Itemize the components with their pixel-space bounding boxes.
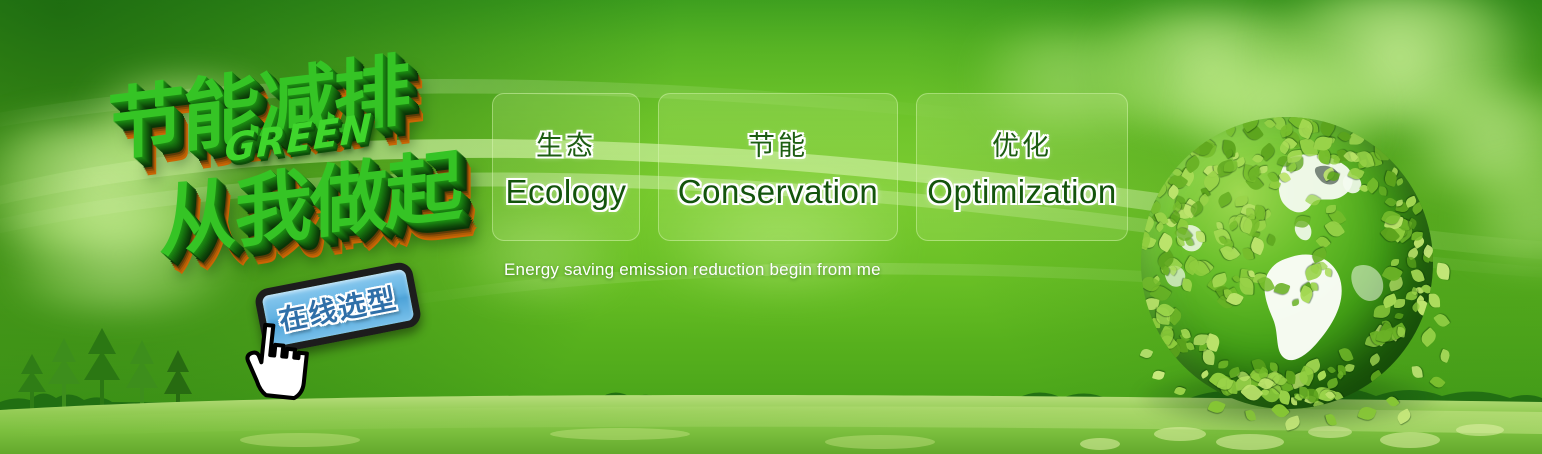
- globe-leaf-icon: [1289, 117, 1312, 132]
- globe-leaf-icon: [1252, 153, 1264, 165]
- clouds-icon: [0, 200, 270, 310]
- globe-leaf-icon: [1190, 137, 1213, 158]
- globe-leaf-icon: [1412, 232, 1423, 242]
- globe-leaf-icon: [1156, 307, 1171, 324]
- conifer-trees-icon: [0, 322, 230, 432]
- globe-leaf-icon: [1359, 184, 1370, 194]
- globe-leaf-icon: [1168, 265, 1178, 276]
- globe-leaf-icon: [1381, 209, 1401, 227]
- globe-leaf-icon: [1154, 210, 1169, 226]
- globe-leaf-icon: [1291, 397, 1298, 405]
- globe-leaf-icon: [1181, 198, 1200, 218]
- globe-leaf-icon: [1232, 274, 1241, 284]
- globe-leaf-icon: [1296, 118, 1316, 139]
- globe-leaf-icon: [1252, 272, 1266, 284]
- globe-leaf-icon: [1407, 218, 1418, 230]
- globe-leaf-icon: [1241, 380, 1264, 403]
- globe-leaf-icon: [1231, 152, 1239, 159]
- globe-leaf-icon: [1174, 224, 1193, 244]
- globe-leaf-icon: [1316, 260, 1327, 271]
- globe-leaf-icon: [1314, 135, 1333, 152]
- globe-leaf-icon: [1357, 159, 1368, 169]
- globe-leaf-icon: [1284, 370, 1296, 384]
- globe-leaf-icon: [1324, 267, 1332, 276]
- globe-leaf-icon: [1257, 376, 1274, 392]
- globe-leaf-icon: [1370, 323, 1392, 346]
- globe-leaf-icon: [1271, 401, 1290, 420]
- headline-line-top: 节能减排: [107, 27, 409, 177]
- globe-leaf-icon: [1396, 199, 1404, 206]
- clouds-icon: [0, 120, 270, 250]
- globe-leaf-icon: [1157, 232, 1176, 252]
- globe-leaf-icon: [1374, 144, 1389, 162]
- globe-leaf-icon: [1152, 318, 1161, 328]
- globe-leaf-icon: [1388, 277, 1405, 292]
- globe-leaf-icon: [1216, 159, 1236, 177]
- globe-leaf-icon: [1162, 325, 1172, 334]
- globe-leaf-icon: [1217, 293, 1236, 312]
- feature-card-en-label: Conservation: [678, 173, 878, 211]
- headline-overlay-word: GREEN: [224, 105, 373, 170]
- globe-leaf-icon: [1279, 170, 1291, 183]
- globe-leaf-icon: [1226, 291, 1244, 308]
- globe-leaf-icon: [1428, 293, 1440, 308]
- globe-leaf-icon: [1228, 215, 1240, 226]
- globe-leaf-icon: [1239, 269, 1255, 288]
- globe-leaf-icon: [1222, 243, 1240, 262]
- globe-leaf-icon: [1287, 162, 1298, 173]
- globe-leaf-icon: [1289, 371, 1310, 390]
- globe-leaf-icon: [1156, 300, 1175, 318]
- globe-leaf-icon: [1384, 213, 1404, 231]
- globe-leaf-icon: [1235, 156, 1246, 167]
- globe-leaf-icon: [1286, 150, 1302, 164]
- globe-leaf-icon: [1172, 167, 1183, 178]
- globe-leaf-icon: [1313, 386, 1330, 401]
- feature-card-row: 生态 Ecology 节能 Conservation 优化 Optimizati…: [492, 93, 1128, 241]
- globe-leaf-icon: [1165, 184, 1181, 200]
- globe-leaf-icon: [1216, 222, 1223, 230]
- globe-leaf-icon: [1410, 202, 1424, 215]
- globe-leaf-icon: [1336, 147, 1350, 162]
- globe-leaf-icon: [1377, 322, 1396, 342]
- globe-leaf-icon: [1257, 367, 1270, 381]
- globe-leaf-icon: [1152, 212, 1163, 222]
- globe-leaf-icon: [1216, 283, 1234, 302]
- globe-leaf-icon: [1242, 247, 1254, 261]
- globe-leaf-icon: [1208, 369, 1230, 390]
- globe-leaf-icon: [1202, 349, 1216, 365]
- globe-leaf-icon: [1245, 174, 1264, 193]
- globe-leaf-icon: [1176, 236, 1185, 246]
- globe-leaf-icon: [1253, 205, 1266, 220]
- globe-leaf-icon: [1304, 394, 1317, 406]
- globe-leaf-icon: [1223, 383, 1235, 394]
- globe-leaf-icon: [1410, 268, 1424, 284]
- globe-leaf-icon: [1245, 409, 1256, 422]
- feature-card-conservation[interactable]: 节能 Conservation: [658, 93, 898, 241]
- globe-leaf-icon: [1436, 263, 1451, 280]
- globe-leaf-icon: [1317, 117, 1338, 138]
- globe-leaf-icon: [1321, 166, 1337, 181]
- globe-leaf-icon: [1183, 155, 1203, 174]
- globe-leaf-icon: [1364, 177, 1381, 194]
- globe-leaf-icon: [1216, 191, 1233, 207]
- globe-leaf-icon: [1367, 353, 1382, 367]
- clouds-icon: [1150, 60, 1410, 165]
- globe-leaf-icon: [1385, 224, 1406, 243]
- globe-leaf-icon: [1151, 276, 1160, 285]
- globe-leaf-icon: [1327, 153, 1341, 166]
- globe-leaf-icon: [1161, 340, 1184, 362]
- globe-leaf-icon: [1373, 304, 1390, 319]
- globe-leaf-icon: [1390, 167, 1399, 177]
- globe-leaf-icon: [1260, 384, 1282, 406]
- globe-leaf-icon: [1382, 263, 1403, 283]
- globe-leaf-icon: [1407, 257, 1417, 269]
- globe-leaf-icon: [1382, 319, 1393, 331]
- globe-leaf-icon: [1220, 374, 1234, 389]
- globe-leaf-icon: [1422, 244, 1435, 258]
- globe-leaf-icon: [1319, 387, 1337, 403]
- globe-leaf-icon: [1152, 370, 1165, 381]
- globe-leaf-icon: [1195, 141, 1216, 160]
- globe-leaf-icon: [1316, 371, 1328, 382]
- globe-leaf-icon: [1226, 379, 1238, 394]
- globe-leaf-icon: [1154, 222, 1164, 232]
- globe-leaf-icon: [1405, 290, 1418, 301]
- globe-leaf-icon: [1252, 231, 1261, 239]
- globe-leaf-icon: [1141, 274, 1161, 295]
- globe-leaf-icon: [1395, 201, 1409, 214]
- globe-leaf-icon: [1350, 152, 1360, 164]
- globe-leaf-icon: [1310, 247, 1328, 264]
- feature-card-cn-label: 优化: [992, 124, 1052, 163]
- globe-leaf-icon: [1378, 186, 1387, 196]
- globe-leaf-icon: [1211, 272, 1228, 287]
- globe-sphere: [1141, 117, 1433, 409]
- globe-leaf-icon: [1334, 155, 1344, 164]
- globe-leaf-icon: [1390, 322, 1408, 339]
- globe-leaf-icon: [1262, 209, 1273, 219]
- globe-leaf-icon: [1234, 196, 1247, 207]
- globe-leaf-icon: [1246, 208, 1256, 220]
- globe-leaf-icon: [1185, 341, 1193, 351]
- eco-promo-banner: 节能减排 从我做起 GREEN 在线选型 生态 Ecology 节能 Conse…: [0, 0, 1542, 454]
- globe-leaf-icon: [1278, 390, 1291, 405]
- globe-leaf-icon: [1204, 333, 1221, 352]
- globe-leaf-icon: [1324, 218, 1346, 240]
- globe-leaf-icon: [1315, 234, 1331, 250]
- globe-leaf-icon: [1270, 383, 1282, 396]
- globe-leaf-icon: [1161, 265, 1171, 276]
- globe-leaf-icon: [1193, 333, 1208, 345]
- globe-leaf-icon: [1220, 383, 1232, 396]
- globe-leaf-icon: [1325, 205, 1335, 213]
- globe-leaf-icon: [1380, 224, 1401, 245]
- globe-leaf-icon: [1141, 215, 1157, 233]
- globe-leaf-icon: [1166, 313, 1173, 321]
- globe-leaf-icon: [1250, 372, 1267, 386]
- globe-leaf-icon: [1307, 389, 1318, 403]
- globe-leaf-icon: [1253, 165, 1263, 175]
- globe-leaf-icon: [1277, 376, 1294, 394]
- globe-leaf-icon: [1268, 370, 1282, 383]
- pointer-hand-icon: [228, 314, 323, 409]
- globe-leaf-icon: [1394, 223, 1415, 244]
- globe-leaf-icon: [1395, 178, 1404, 186]
- globe-leaf-icon: [1283, 137, 1298, 152]
- globe-leaf-icon: [1200, 369, 1210, 378]
- globe-leaf-icon: [1207, 275, 1226, 293]
- globe-leaf-icon: [1413, 236, 1426, 249]
- globe-leaf-icon: [1405, 247, 1420, 261]
- globe-leaf-icon: [1328, 208, 1346, 227]
- globe-leaf-icon: [1228, 221, 1239, 232]
- globe-leaf-icon: [1227, 366, 1240, 378]
- globe-leaf-icon: [1343, 149, 1358, 164]
- globe-leaf-icon: [1266, 234, 1277, 246]
- globe-leaf-icon: [1326, 378, 1339, 389]
- globe-leaf-icon: [1164, 254, 1183, 273]
- globe-leaf-icon: [1203, 163, 1220, 180]
- globe-leaf-icon: [1224, 123, 1238, 138]
- globe-leaf-icon: [1240, 117, 1262, 133]
- globe-leaf-icon: [1272, 372, 1287, 387]
- feature-card-en-label: Optimization: [927, 173, 1116, 211]
- globe-leaf-icon: [1248, 270, 1255, 278]
- globe-leaf-icon: [1253, 219, 1267, 231]
- globe-leaf-icon: [1224, 149, 1235, 159]
- globe-leaf-icon: [1325, 390, 1335, 400]
- globe-leaf-icon: [1218, 359, 1228, 368]
- globe-leaf-icon: [1149, 200, 1164, 215]
- globe-leaf-icon: [1224, 289, 1233, 300]
- eco-globe-icon: [1135, 115, 1445, 425]
- globe-leaf-icon: [1241, 214, 1264, 237]
- globe-leaf-icon: [1181, 328, 1191, 339]
- globe-leaf-icon: [1426, 250, 1433, 263]
- globe-leaf-icon: [1375, 329, 1391, 344]
- globe-leaf-icon: [1345, 363, 1356, 373]
- globe-leaf-icon: [1297, 285, 1315, 304]
- globe-leaf-icon: [1152, 181, 1169, 198]
- globe-leaf-icon: [1141, 230, 1153, 251]
- globe-leaf-icon: [1141, 235, 1157, 250]
- globe-leaf-icon: [1384, 170, 1399, 187]
- headline-artwork: 节能减排 从我做起 GREEN: [96, 34, 496, 274]
- globe-leaf-icon: [1299, 387, 1309, 400]
- globe-leaf-icon: [1200, 187, 1210, 198]
- globe-leaf-icon: [1188, 260, 1200, 271]
- globe-leaf-icon: [1332, 390, 1344, 403]
- globe-leaf-icon: [1161, 265, 1169, 274]
- feature-card-ecology[interactable]: 生态 Ecology: [492, 93, 640, 241]
- globe-leaf-icon: [1222, 140, 1237, 158]
- globe-leaf-icon: [1140, 347, 1154, 360]
- globe-leaf-icon: [1249, 365, 1270, 385]
- globe-leaf-icon: [1200, 171, 1222, 193]
- globe-leaf-icon: [1259, 166, 1268, 174]
- globe-leaf-icon: [1216, 376, 1234, 392]
- globe-leaf-icon: [1277, 154, 1293, 168]
- clouds-icon: [1440, 170, 1542, 265]
- globe-leaf-icon: [1149, 283, 1172, 305]
- globe-leaf-icon: [1311, 282, 1318, 291]
- globe-leaf-icon: [1391, 331, 1401, 341]
- globe-leaf-icon: [1302, 357, 1322, 375]
- globe-leaf-icon: [1262, 370, 1282, 389]
- globe-leaf-icon: [1415, 295, 1426, 307]
- globe-leaf-icon: [1410, 302, 1420, 312]
- globe-leaf-icon: [1273, 117, 1286, 131]
- globe-leaf-icon: [1398, 218, 1409, 231]
- globe-leaf-icon: [1438, 349, 1451, 363]
- globe-leaf-icon: [1188, 200, 1205, 216]
- globe-leaf-icon: [1325, 135, 1335, 145]
- globe-leaf-icon: [1233, 210, 1254, 230]
- globe-leaf-icon: [1168, 211, 1182, 225]
- globe-leaf-icon: [1144, 297, 1161, 311]
- globe-leaf-icon: [1197, 193, 1210, 206]
- globe-leaf-icon: [1286, 131, 1300, 148]
- globe-leaf-icon: [1292, 300, 1300, 307]
- globe-leaf-icon: [1394, 217, 1412, 234]
- globe-leaf-icon: [1349, 132, 1365, 145]
- feature-card-en-label: Ecology: [506, 173, 627, 211]
- globe-leaf-icon: [1213, 164, 1221, 174]
- globe-leaf-icon: [1180, 166, 1192, 177]
- globe-leaf-icon: [1207, 398, 1226, 415]
- globe-leaf-icon: [1258, 142, 1277, 160]
- globe-leaf-icon: [1196, 231, 1206, 243]
- globe-leaf-icon: [1278, 123, 1294, 138]
- globe-leaf-icon: [1338, 365, 1346, 375]
- globe-leaf-icon: [1433, 312, 1450, 330]
- globe-leaf-icon: [1218, 236, 1227, 246]
- globe-leaf-icon: [1303, 263, 1323, 281]
- globe-leaf-icon: [1393, 232, 1403, 242]
- globe-leaf-icon: [1164, 177, 1177, 192]
- globe-leaf-icon: [1159, 333, 1178, 352]
- globe-leaf-icon: [1240, 277, 1255, 295]
- globe-leaf-icon: [1338, 129, 1353, 144]
- globe-leaf-icon: [1310, 263, 1321, 275]
- globe-leaf-icon: [1222, 239, 1234, 252]
- globe-leaf-icon: [1403, 195, 1417, 208]
- globe-leaf-icon: [1224, 160, 1238, 172]
- globe-leaf-icon: [1189, 257, 1210, 279]
- globe-leaf-icon: [1381, 293, 1398, 309]
- globe-leaf-icon: [1249, 237, 1267, 256]
- globe-leaf-icon: [1421, 283, 1433, 296]
- globe-leaf-icon: [1429, 374, 1445, 390]
- globe-leaf-icon: [1305, 285, 1314, 294]
- globe-leaf-icon: [1173, 201, 1196, 222]
- globe-leaf-icon: [1258, 275, 1276, 294]
- globe-leaf-icon: [1267, 170, 1279, 183]
- globe-leaf-icon: [1357, 404, 1377, 422]
- globe-leaf-icon: [1219, 244, 1236, 262]
- globe-leaf-icon: [1365, 333, 1383, 349]
- clouds-icon: [1230, 0, 1542, 125]
- globe-leaf-icon: [1251, 357, 1267, 375]
- globe-leaf-icon: [1155, 250, 1177, 271]
- globe-leaf-icon: [1300, 137, 1319, 158]
- globe-leaf-icon: [1299, 281, 1315, 296]
- globe-leaf-icon: [1325, 413, 1337, 427]
- globe-leaf-icon: [1164, 217, 1177, 229]
- globe-leaf-icon: [1238, 216, 1254, 234]
- globe-leaf-icon: [1175, 195, 1188, 209]
- globe-leaf-icon: [1240, 202, 1258, 219]
- globe-leaf-icon: [1277, 140, 1291, 154]
- globe-continents: [1141, 117, 1433, 409]
- globe-leaf-icon: [1385, 196, 1397, 208]
- globe-leaf-icon: [1242, 164, 1258, 182]
- globe-leaf-icon: [1166, 307, 1184, 325]
- globe-leaf-icon: [1189, 144, 1201, 158]
- globe-leaf-icon: [1175, 218, 1190, 235]
- globe-leaf-icon: [1237, 370, 1251, 384]
- globe-leaf-icon: [1178, 167, 1197, 187]
- globe-leaf-icon: [1264, 118, 1276, 130]
- globe-leaf-icon: [1416, 286, 1425, 295]
- globe-leaf-icon: [1316, 150, 1327, 161]
- globe-leaf-icon: [1294, 393, 1302, 402]
- globe-leaf-icon: [1246, 165, 1263, 181]
- globe-leaf-icon: [1179, 332, 1190, 344]
- globe-leaf-icon: [1185, 237, 1195, 248]
- globe-leaf-icon: [1347, 166, 1364, 182]
- globe-leaf-icon: [1162, 330, 1174, 339]
- globe-leaf-icon: [1336, 370, 1345, 379]
- globe-leaf-icon: [1284, 415, 1302, 431]
- globe-leaf-icon: [1305, 192, 1321, 207]
- globe-leaf-icon: [1243, 121, 1264, 143]
- globe-leaf-icon: [1213, 226, 1232, 247]
- globe-leaf-icon: [1396, 228, 1407, 237]
- feature-card-optimization[interactable]: 优化 Optimization: [916, 93, 1128, 241]
- globe-leaf-icon: [1167, 172, 1188, 192]
- globe-shadow: [1139, 367, 1439, 429]
- globe-leaf-icon: [1419, 327, 1439, 347]
- globe-leaf-icon: [1357, 149, 1376, 170]
- headline-line-bottom: 从我做起: [159, 123, 461, 273]
- globe-leaf-icon: [1273, 281, 1290, 296]
- globe-leaf-icon: [1175, 339, 1187, 354]
- globe-leaf-icon: [1199, 343, 1207, 350]
- globe-leaf-icon: [1308, 122, 1318, 133]
- globe-leaf-icon: [1394, 299, 1405, 308]
- feature-card-cn-label: 节能: [748, 124, 808, 163]
- globe-leaf-icon: [1181, 277, 1193, 291]
- globe-leaf-icon: [1394, 312, 1403, 320]
- globe-leaf-icon: [1366, 150, 1383, 168]
- globe-leaf-icon: [1338, 347, 1354, 364]
- globe-leaf-icon: [1174, 385, 1186, 396]
- globe-leaf-icon: [1411, 286, 1420, 295]
- globe-leaf-icon: [1286, 157, 1303, 171]
- globe-leaf-icon: [1260, 388, 1269, 396]
- globe-leaf-icon: [1171, 201, 1184, 214]
- clouds-icon: [1380, 90, 1542, 190]
- globe-leaf-icon: [1395, 408, 1412, 424]
- clouds-icon: [60, 78, 310, 176]
- globe-leaf-icon: [1417, 300, 1430, 315]
- globe-leaf-icon: [1302, 126, 1311, 136]
- globe-leaf-icon: [1369, 329, 1386, 347]
